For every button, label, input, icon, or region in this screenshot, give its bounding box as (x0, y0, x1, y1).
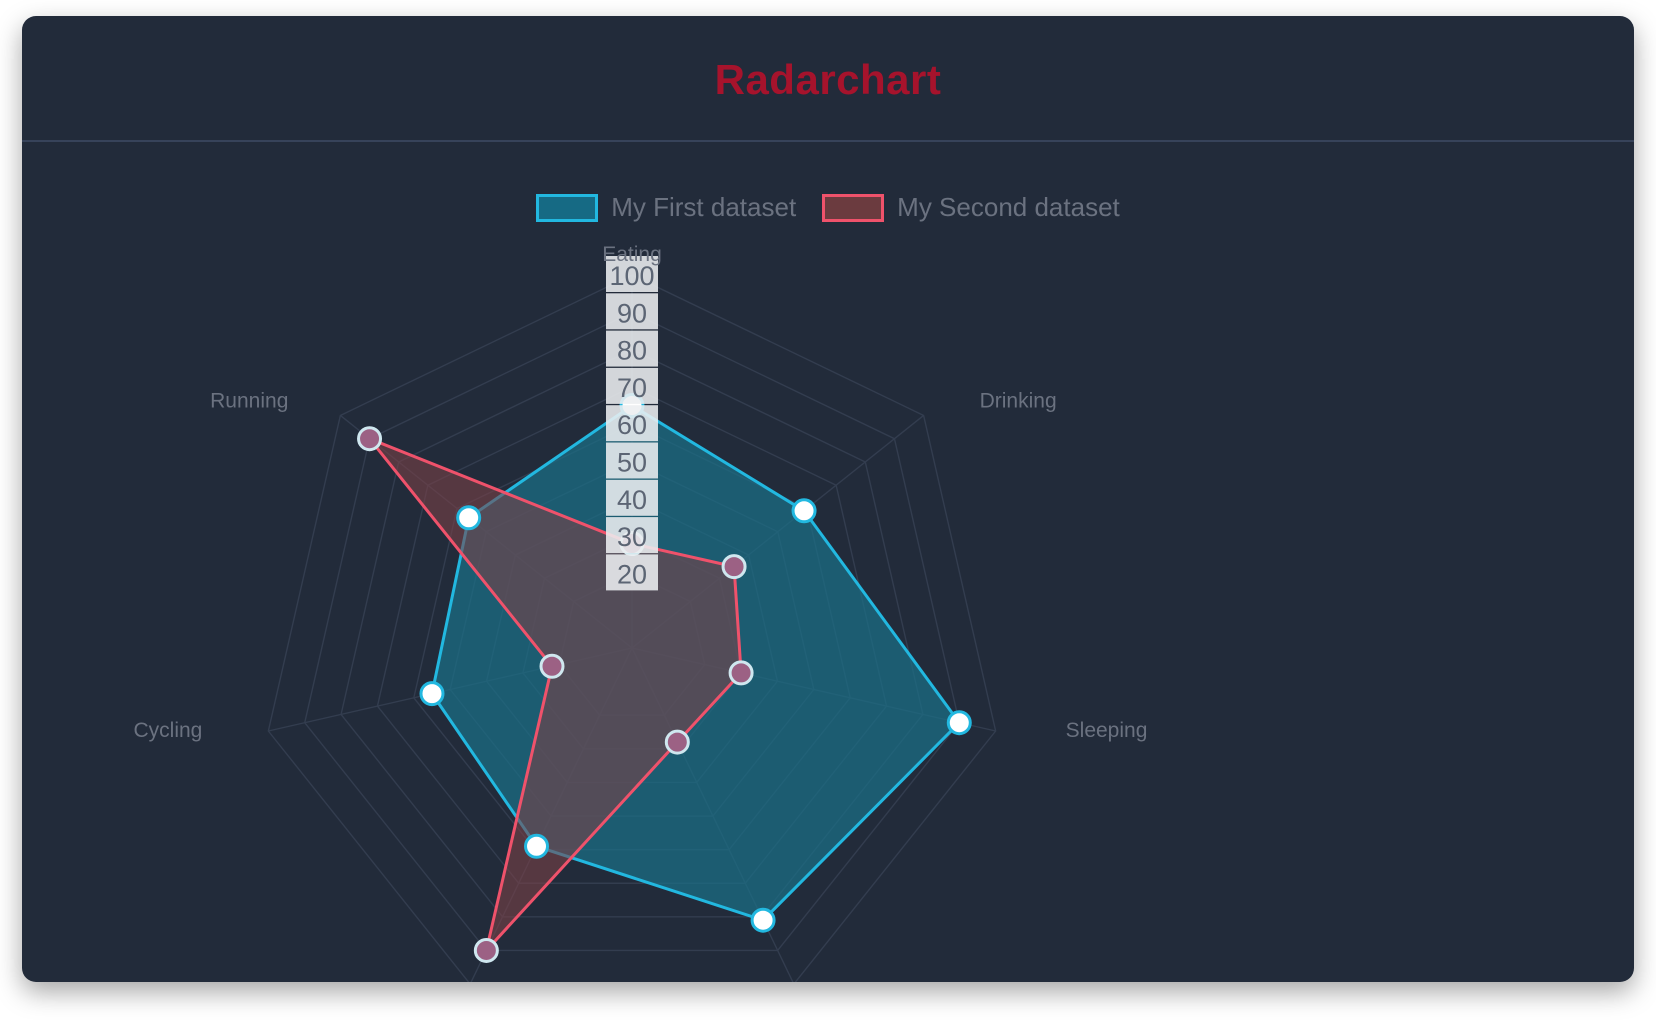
radar-data-point[interactable] (359, 428, 381, 450)
radar-chart[interactable]: 2030405060708090100EatingDrinkingSleepin… (22, 144, 1634, 982)
panel-header: Radarchart (22, 16, 1634, 142)
radar-tick-label: 40 (617, 485, 647, 515)
radar-tick-label: 20 (617, 559, 647, 589)
radar-tick-label: 70 (617, 373, 647, 403)
radar-data-point[interactable] (730, 662, 752, 684)
radar-tick-label: 50 (617, 448, 647, 478)
radar-data-point[interactable] (752, 909, 774, 931)
screen: Radarchart My First dataset My Second da… (0, 0, 1656, 1020)
radar-axis-label-running: Running (210, 389, 288, 412)
radar-data-point[interactable] (421, 683, 443, 705)
radar-axis-label-eating: Eating (602, 243, 662, 266)
radar-tick-label: 30 (617, 522, 647, 552)
page-title: Radarchart (22, 56, 1634, 104)
radar-axis-label-drinking: Drinking (980, 389, 1057, 412)
radar-data-point[interactable] (541, 655, 563, 677)
chart-area: My First dataset My Second dataset 20304… (22, 144, 1634, 982)
radar-axis-label-cycling: Cycling (133, 719, 202, 742)
chart-panel: Radarchart My First dataset My Second da… (22, 16, 1634, 982)
radar-axis-label-sleeping: Sleeping (1066, 719, 1148, 742)
radar-data-point[interactable] (458, 507, 480, 529)
radar-data-point[interactable] (475, 939, 497, 961)
radar-data-point[interactable] (666, 731, 688, 753)
radar-data-point[interactable] (526, 835, 548, 857)
radar-data-point[interactable] (793, 500, 815, 522)
radar-tick-label: 80 (617, 336, 647, 366)
radar-tick-label: 90 (617, 298, 647, 328)
radar-data-point[interactable] (723, 556, 745, 578)
radar-tick-label: 60 (617, 410, 647, 440)
radar-data-point[interactable] (948, 712, 970, 734)
